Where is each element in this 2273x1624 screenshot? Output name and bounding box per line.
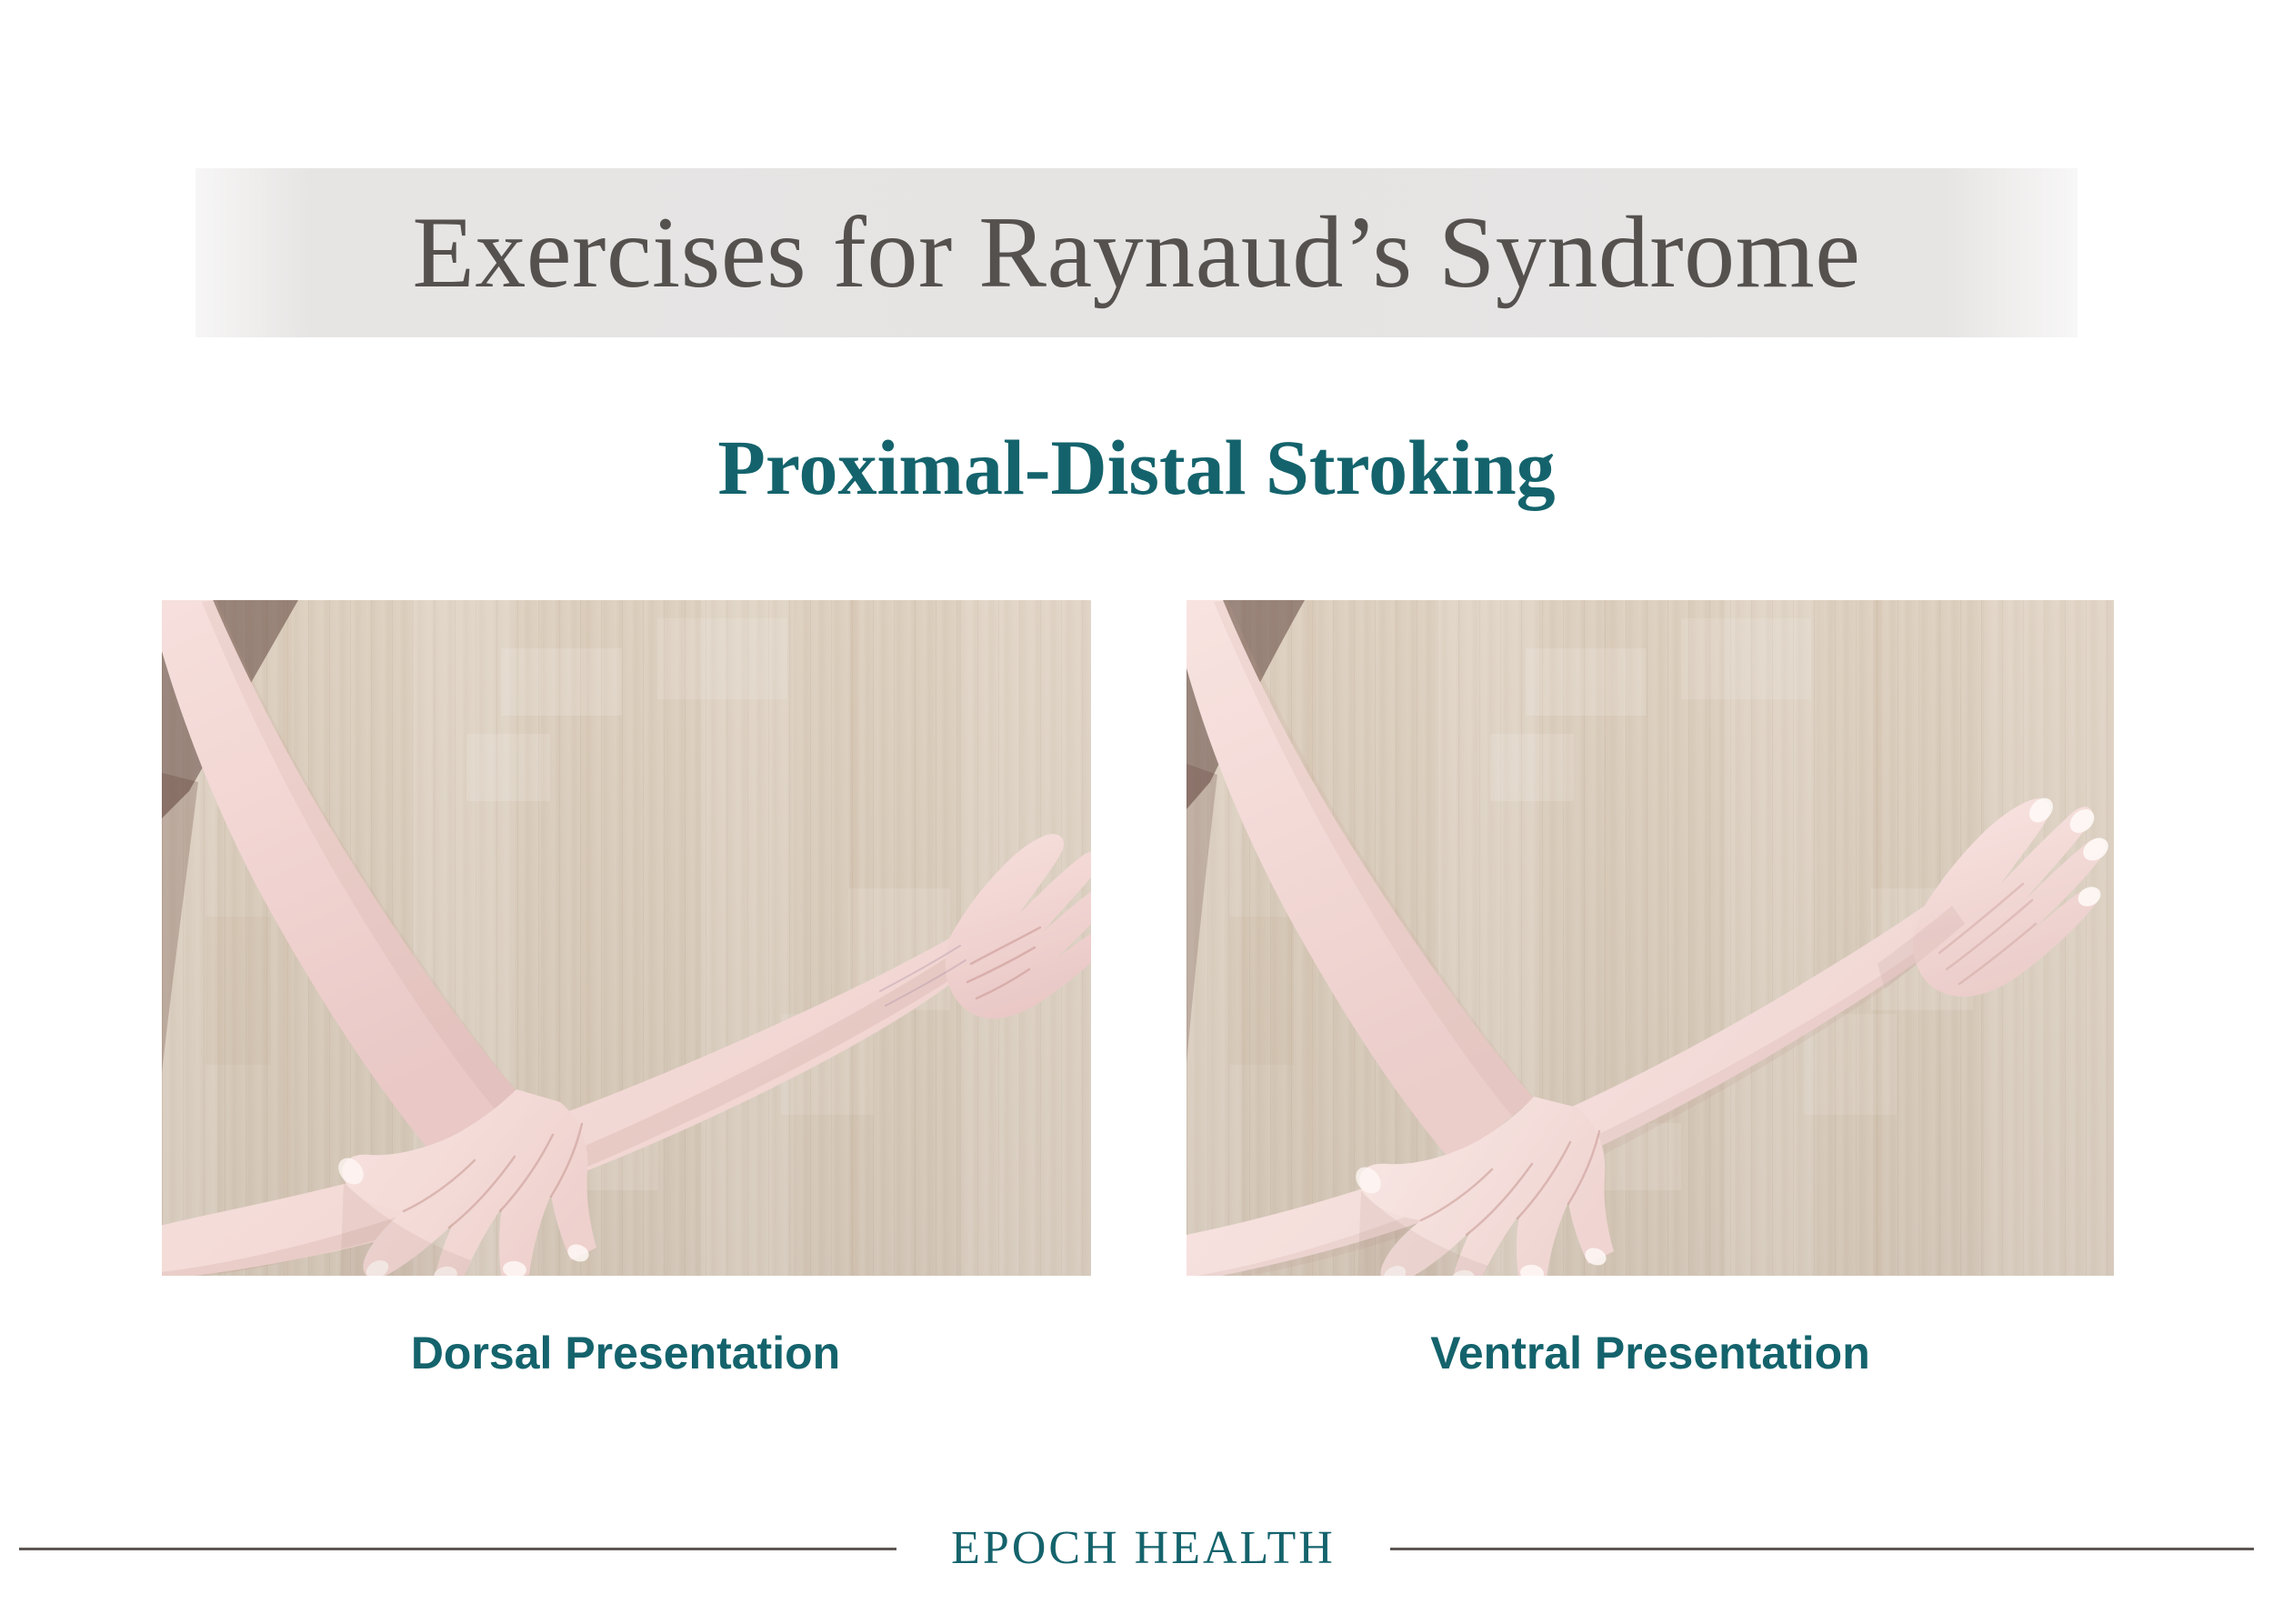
- photo-dorsal-presentation: [162, 600, 1091, 1276]
- caption-dorsal-presentation: Dorsal Presentation: [162, 1326, 1089, 1380]
- exercise-subtitle: Proximal-Distal Stroking: [0, 420, 2273, 515]
- figure-ventral-presentation: [1187, 600, 2114, 1276]
- caption-ventral-presentation: Ventral Presentation: [1187, 1326, 2114, 1380]
- crossed-forearms-illustration-dorsal: [162, 600, 1091, 1276]
- crossed-forearms-illustration-ventral: [1187, 600, 2114, 1276]
- footer-rule-right: [1390, 1548, 2254, 1550]
- figure-dorsal-presentation: [162, 600, 1091, 1276]
- photo-ventral-presentation: [1187, 600, 2114, 1276]
- page-title: Exercises for Raynaud’s Syndrome: [0, 173, 2273, 333]
- footer: EPOCH HEALTH: [0, 1517, 2273, 1580]
- footer-rule-left: [19, 1548, 896, 1550]
- brand-wordmark: EPOCH HEALTH: [951, 1521, 1336, 1576]
